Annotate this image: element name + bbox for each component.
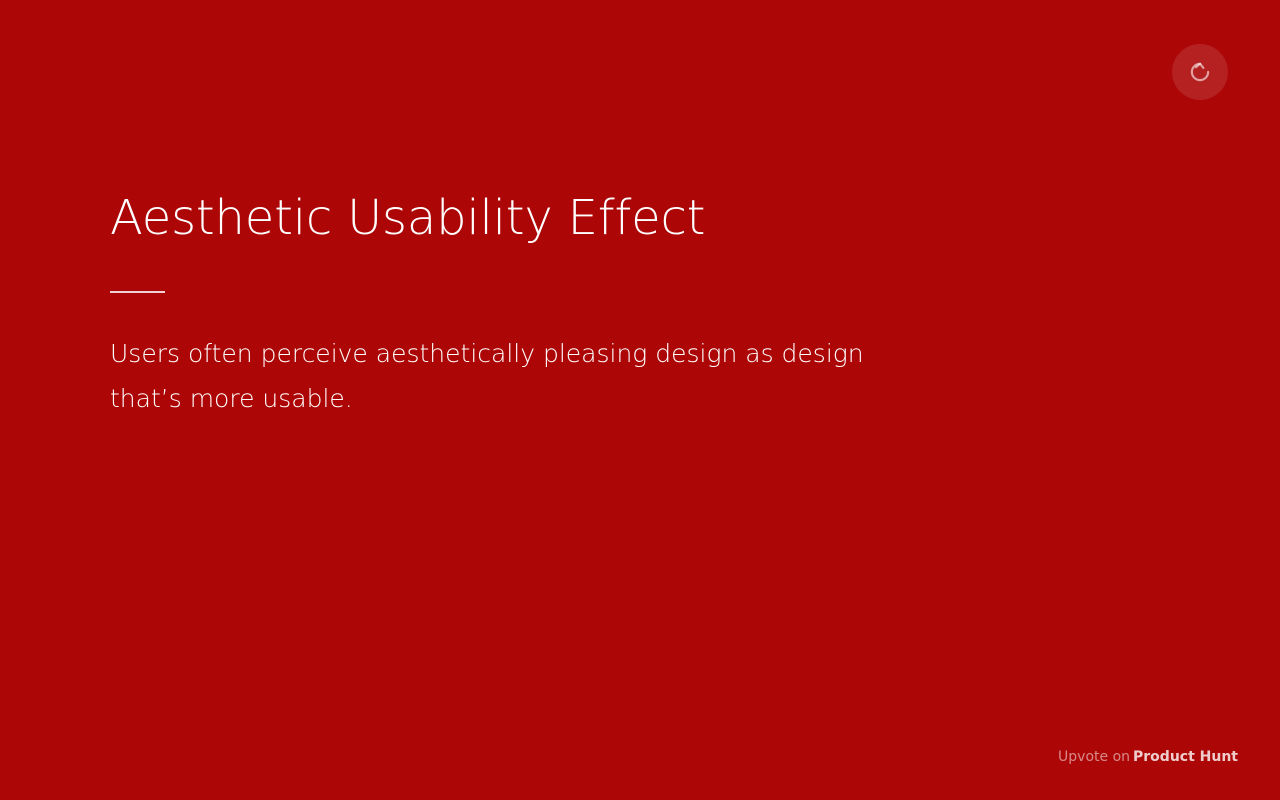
title-divider xyxy=(110,291,165,293)
page-title: Aesthetic Usability Effect xyxy=(110,190,930,247)
page-description: Users often perceive aesthetically pleas… xyxy=(110,331,900,421)
refresh-icon xyxy=(1187,59,1213,85)
content-block: Aesthetic Usability Effect Users often p… xyxy=(110,190,930,421)
law-card: Aesthetic Usability Effect Users often p… xyxy=(0,0,1280,800)
credit-brand-label: Product Hunt xyxy=(1133,749,1238,765)
reset-button[interactable] xyxy=(1172,44,1228,100)
credit-prefix-label: Upvote on xyxy=(1058,749,1130,765)
product-hunt-credit-link[interactable]: Upvote onProduct Hunt xyxy=(1058,750,1238,764)
